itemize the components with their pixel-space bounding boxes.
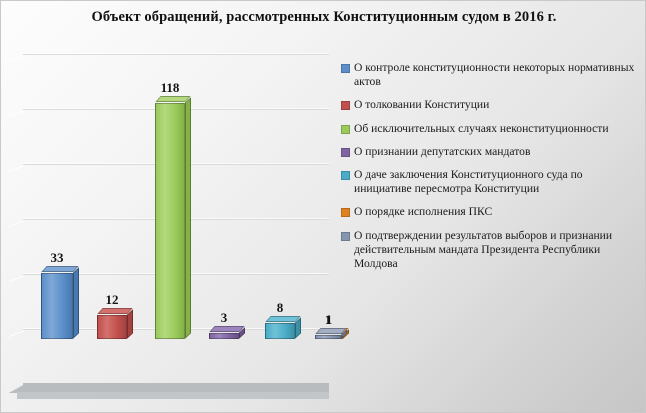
bar-3[interactable]: 118 [155, 103, 185, 339]
legend-item-7[interactable]: О подтверждении результатов выборов и пр… [341, 229, 641, 272]
axis-wall-tick [9, 166, 24, 172]
bar-top-face [41, 266, 78, 272]
plot-area: 33121183811 [9, 41, 329, 401]
axis-wall-tick [9, 331, 24, 337]
bar-face [41, 273, 73, 339]
bar-7[interactable]: 1 [315, 335, 341, 339]
legend-item-1[interactable]: О контроле конституционности некоторых н… [341, 61, 641, 89]
bar-side-face [185, 97, 191, 338]
chart-legend: О контроле конституционности некоторых н… [341, 61, 641, 280]
chart-floor-top [23, 383, 329, 392]
legend-item-5[interactable]: О даче заключения Конституционного суда … [341, 168, 641, 196]
bar-4[interactable]: 3 [209, 333, 239, 339]
bar-top-face [315, 328, 346, 334]
bar-side-face [127, 309, 133, 338]
axis-wall-tick [9, 221, 24, 227]
legend-swatch-icon [341, 171, 350, 180]
legend-swatch-icon [341, 125, 350, 134]
bar-top-face [209, 326, 244, 332]
legend-item-label: О признании депутатских мандатов [354, 145, 530, 159]
bar-value-label: 8 [277, 300, 284, 316]
legend-item-label: О контроле конституционности некоторых н… [354, 61, 641, 89]
legend-item-label: О толковании Конституции [354, 98, 489, 112]
bar-face [155, 103, 185, 339]
chart-floor-front [17, 392, 329, 399]
legend-item-6[interactable]: О порядке исполнения ПКС [341, 205, 641, 219]
gridline [23, 53, 329, 55]
legend-swatch-icon [341, 232, 350, 241]
legend-item-3[interactable]: Об исключительных случаях неконституцион… [341, 122, 641, 136]
bar-top-face [265, 316, 300, 322]
axis-wall-tick [9, 56, 24, 62]
legend-item-2[interactable]: О толковании Конституции [341, 98, 641, 112]
bar-1[interactable]: 33 [41, 273, 73, 339]
bar-value-label: 3 [221, 310, 228, 326]
legend-item-label: Об исключительных случаях неконституцион… [354, 122, 609, 136]
bar-face [315, 335, 341, 339]
bar-value-label: 1 [325, 312, 332, 328]
axis-wall-tick [9, 111, 24, 117]
legend-item-4[interactable]: О признании депутатских мандатов [341, 145, 641, 159]
legend-swatch-icon [341, 64, 350, 73]
bar-face [265, 323, 295, 339]
legend-swatch-icon [341, 101, 350, 110]
bar-5[interactable]: 8 [265, 323, 295, 339]
bar-value-label: 12 [106, 292, 119, 308]
legend-item-label: О порядке исполнения ПКС [354, 205, 492, 219]
bar-face [209, 333, 239, 339]
legend-item-label: О даче заключения Конституционного суда … [354, 168, 641, 196]
bar-top-face [97, 308, 132, 314]
bar-2[interactable]: 12 [97, 315, 127, 339]
bar-face [97, 315, 127, 339]
legend-swatch-icon [341, 208, 350, 217]
bar-value-label: 118 [161, 80, 180, 96]
chart-container: Объект обращений, рассмотренных Конститу… [0, 0, 646, 413]
bar-value-label: 33 [51, 250, 64, 266]
chart-title: Объект обращений, рассмотренных Конститу… [1, 9, 646, 26]
axis-wall-tick [9, 276, 24, 282]
bar-top-face [155, 96, 190, 102]
legend-item-label: О подтверждении результатов выборов и пр… [354, 229, 641, 272]
legend-swatch-icon [341, 148, 350, 157]
bar-side-face [73, 267, 79, 338]
